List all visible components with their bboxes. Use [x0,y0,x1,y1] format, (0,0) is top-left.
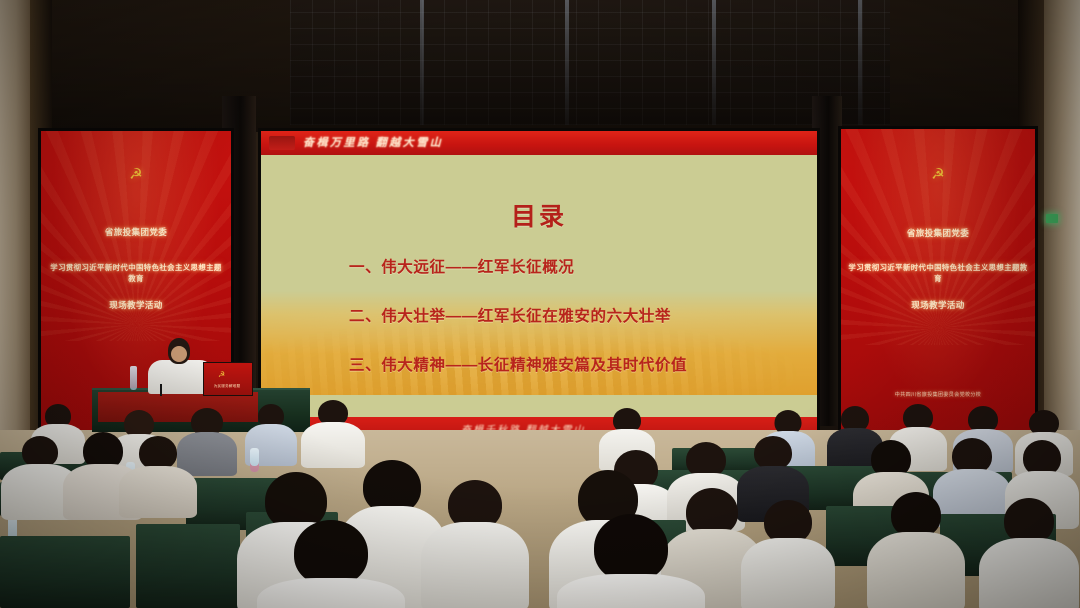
audience-member-front [556,514,706,608]
slide-outline-list: 一、伟大远征——红军长征概况 二、伟大壮举——红军长征在雅安的六大壮举 三、伟大… [349,255,769,402]
slide-body: 目录 一、伟大远征——红军长征概况 二、伟大壮举——红军长征在雅安的六大壮举 三… [261,155,817,419]
audience-body [557,574,705,608]
banner-left-line3: 现场教学活动 [47,299,225,311]
main-presentation-screen: 奋楫万里路 翻越大雪山 目录 一、伟大远征——红军长征概况 二、伟大壮举——红军… [258,128,820,446]
audience-body [867,532,965,608]
banner-left-line2: 学习贯彻习近平新时代中国特色社会主义思想主题教育 [47,262,225,284]
speaker-laptop [203,362,253,396]
party-emblem-icon: ☭ [931,167,944,182]
audience-head [594,514,668,582]
audience-body [741,538,835,608]
audience-body [119,466,197,518]
audience-head [294,520,368,586]
microphone-icon [160,384,162,396]
speaker-face [171,346,187,362]
slide-header-calligraphy: 奋楫万里路 翻越大雪山 [303,134,443,150]
water-bottle [250,448,259,472]
banner-left-line1: 省旅投集团党委 [47,226,225,238]
laptop-party-emblem-icon: ☭ [218,370,225,379]
audience-member [300,400,366,464]
audience-body [979,538,1079,608]
audience-member [978,498,1080,608]
banner-right-line1: 省旅投集团党委 [847,227,1029,239]
audience-member [740,500,836,608]
audience-body [421,522,529,608]
slide-title: 目录 [261,197,817,233]
audience-desk [0,536,130,608]
audience-desk [136,524,240,608]
audience-head [139,436,177,470]
laptop-screen-text: 为民服务解难题 [206,384,248,389]
audience-member-front [256,520,406,608]
outline-item-1: 一、伟大远征——红军长征概况 [349,255,769,277]
slide-header-bar: 奋楫万里路 翻越大雪山 [261,131,817,155]
exit-sign-icon [1046,214,1058,223]
banner-right-line4: 中共四川省旅投集团委员会党校分校 [847,391,1029,398]
audience-head [754,436,792,470]
conference-hall-scene: ☭ 省旅投集团党委 学习贯彻习近平新时代中国特色社会主义思想主题教育 现场教学活… [0,0,1080,608]
audience-member [420,480,530,608]
water-bottle [130,366,137,390]
banner-right-line2: 学习贯彻习近平新时代中国特色社会主义思想主题教育 [847,262,1029,284]
seal-stamp-icon [269,136,295,150]
audience-body [257,578,405,608]
audience-member [118,436,198,512]
outline-item-2: 二、伟大壮举——红军长征在雅安的六大壮举 [349,304,769,326]
banner-right-line3: 现场教学活动 [847,299,1029,311]
outline-item-3: 三、伟大精神——长征精神雅安篇及其时代价值 [349,353,769,375]
party-emblem-icon: ☭ [129,167,142,182]
side-banner-right: ☭ 省旅投集团党委 学习贯彻习近平新时代中国特色社会主义思想主题教育 现场教学活… [838,126,1038,440]
ceiling-shadow [0,0,1080,132]
audience-member [866,492,966,608]
